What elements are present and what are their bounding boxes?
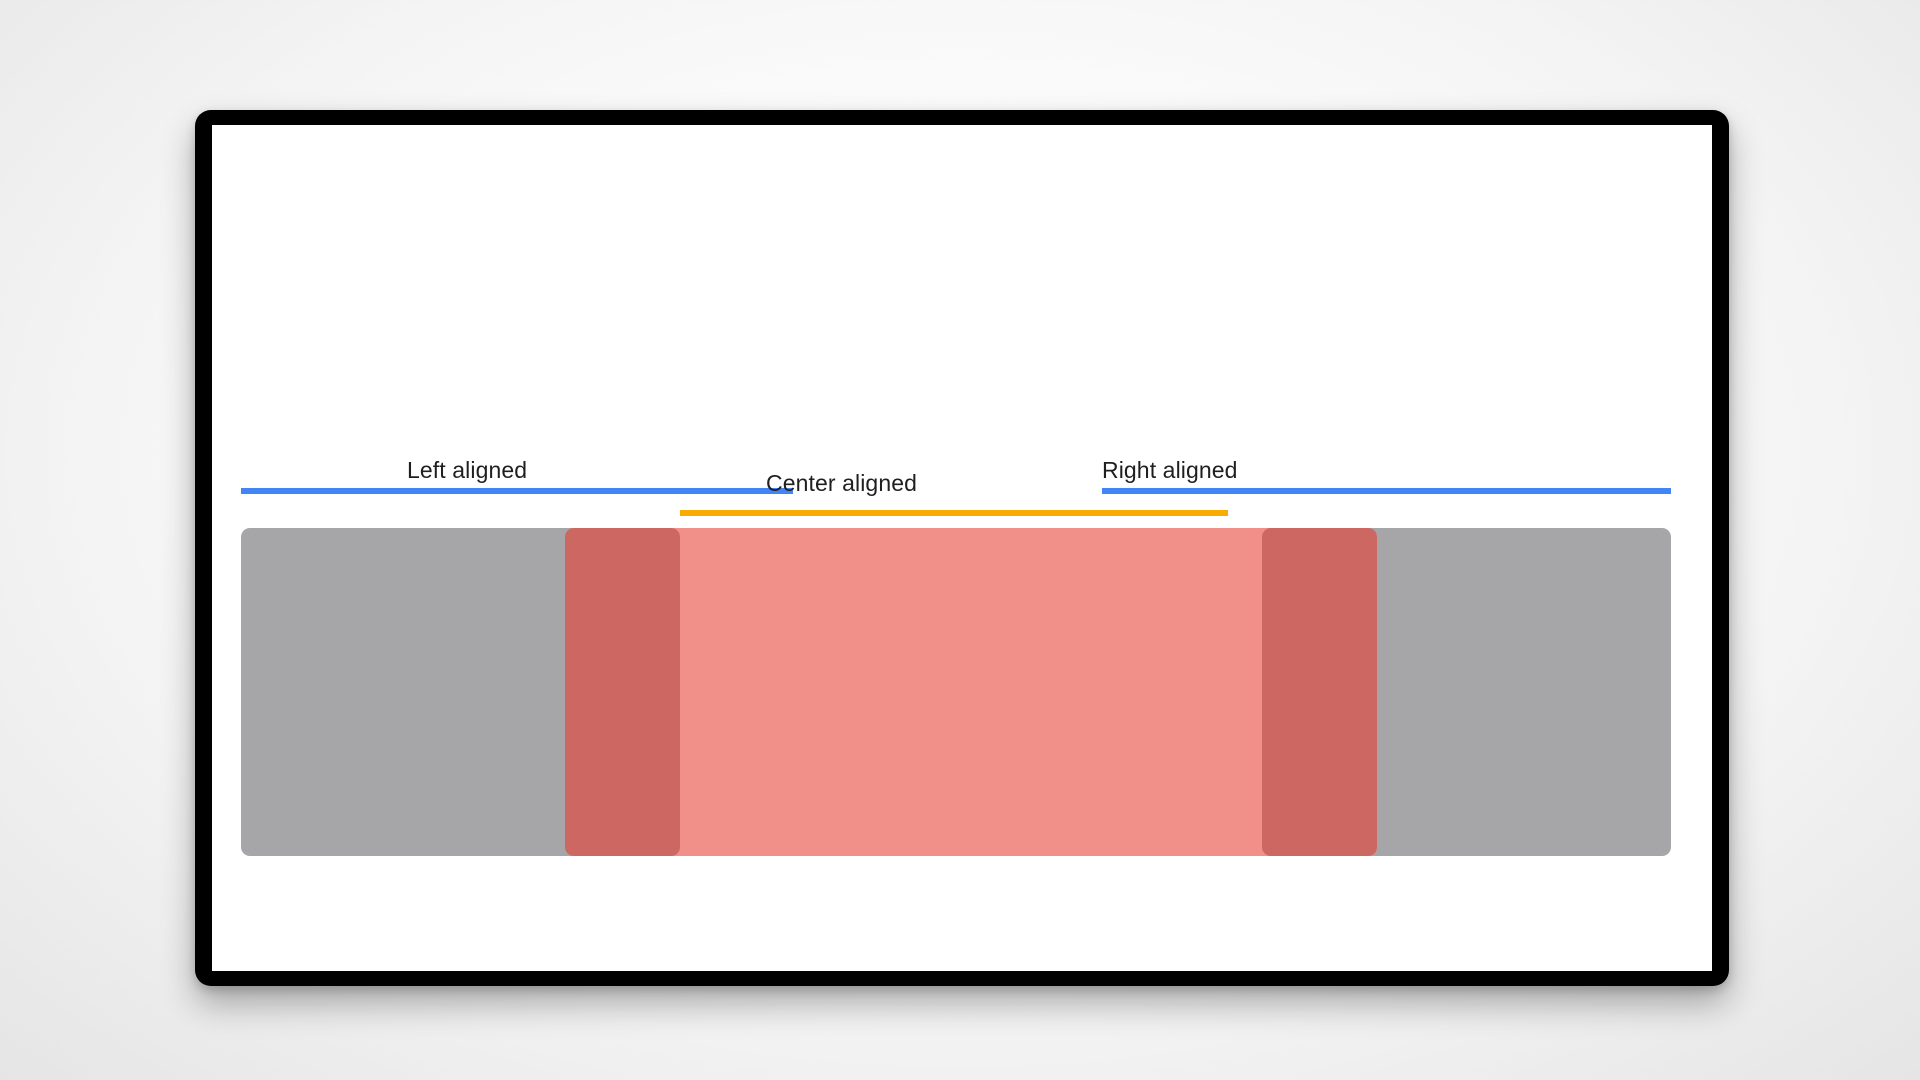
label-left-aligned: Left aligned — [407, 457, 527, 484]
screen-content: Left aligned Center aligned Right aligne… — [212, 125, 1712, 971]
rule-left-aligned — [241, 488, 793, 494]
stage: Left aligned Center aligned Right aligne… — [0, 0, 1920, 1080]
overlap-region-left — [565, 528, 680, 856]
monitor-screen: Left aligned Center aligned Right aligne… — [212, 125, 1712, 971]
highlight-bar — [565, 528, 1377, 856]
overlap-region-right — [1262, 528, 1377, 856]
label-right-aligned: Right aligned — [1102, 457, 1238, 484]
rule-right-aligned — [1102, 488, 1671, 494]
monitor-mockup: Left aligned Center aligned Right aligne… — [195, 110, 1729, 986]
label-center-aligned: Center aligned — [766, 470, 917, 497]
rule-center-aligned — [680, 510, 1228, 516]
